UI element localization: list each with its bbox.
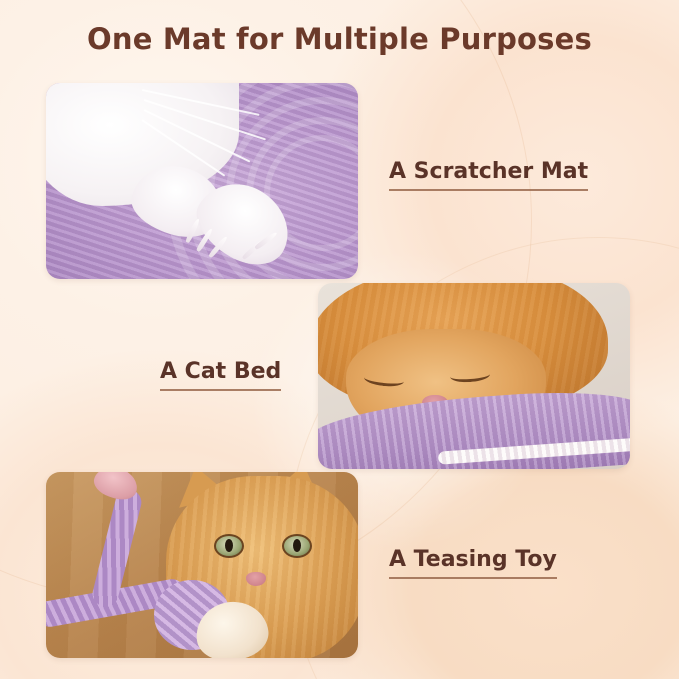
photo-cat-playing-with-rope-toy bbox=[46, 472, 358, 658]
cat-eye-right-closed bbox=[450, 368, 491, 384]
page-title: One Mat for Multiple Purposes bbox=[0, 22, 679, 56]
cat-eye-left bbox=[214, 534, 244, 558]
photo-white-cat-paws-on-purple-mat bbox=[46, 83, 358, 279]
photo-orange-cat-sleeping-on-mat bbox=[318, 283, 630, 469]
product-feature-image: One Mat for Multiple Purposes bbox=[0, 0, 679, 679]
label-cat-bed: A Cat Bed bbox=[160, 359, 281, 391]
label-scratcher-mat: A Scratcher Mat bbox=[389, 159, 588, 191]
label-teasing-toy: A Teasing Toy bbox=[389, 547, 557, 579]
cat-eye-right bbox=[282, 534, 312, 558]
cat-eye-left-closed bbox=[363, 371, 404, 388]
